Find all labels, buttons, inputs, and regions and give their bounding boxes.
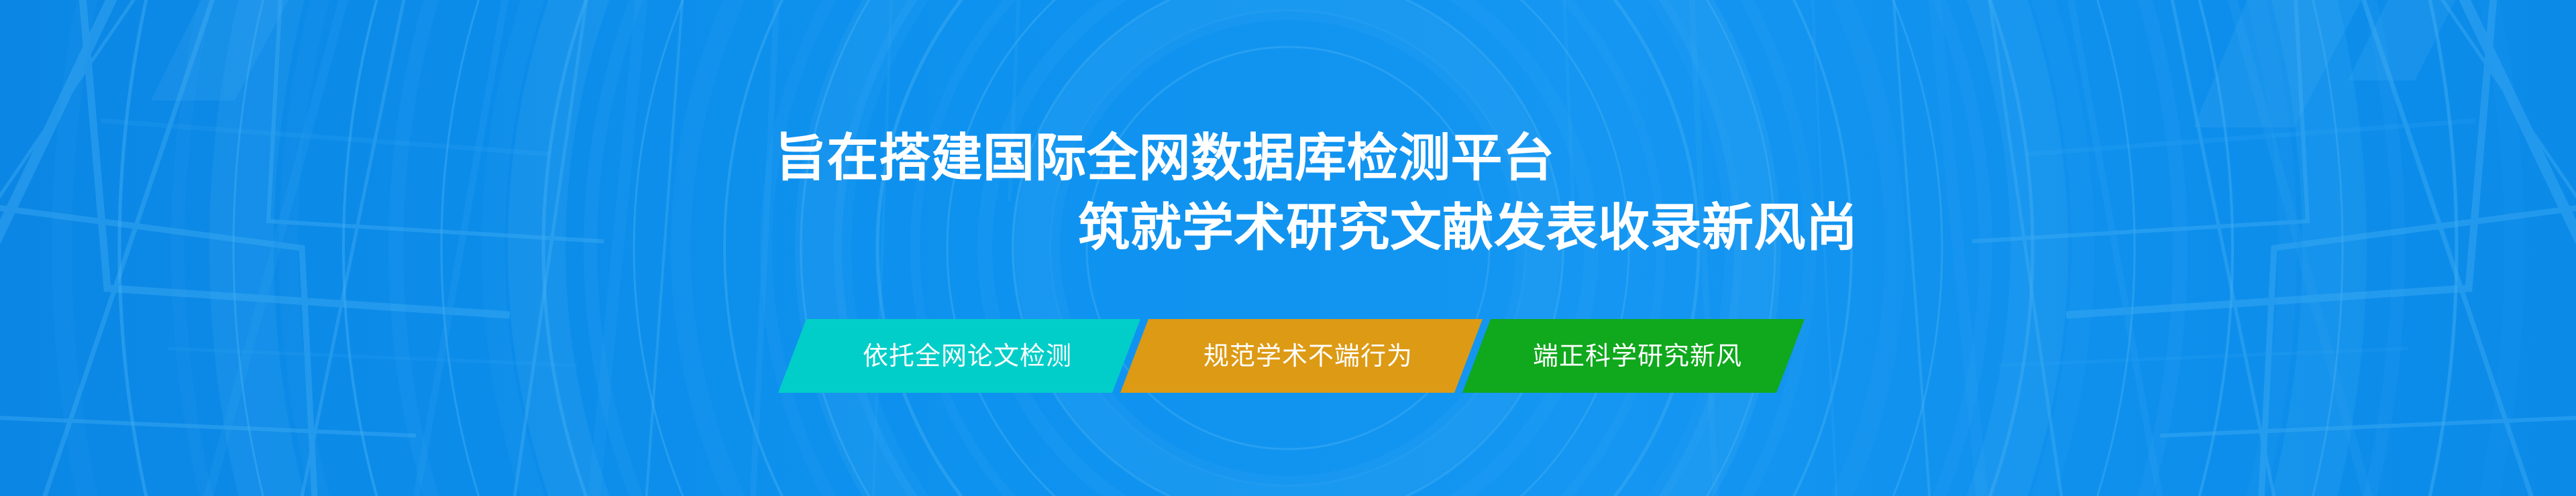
feature-tag-paper-detection[interactable]: 依托全网论文检测 bbox=[778, 319, 1140, 393]
background-tech-pattern bbox=[0, 0, 2576, 496]
feature-tag-label: 端正科学研究新风 bbox=[1533, 344, 1742, 369]
feature-tag-academic-misconduct[interactable]: 规范学术不端行为 bbox=[1120, 319, 1483, 393]
feature-tag-bar: 依托全网论文检测 规范学术不端行为 端正科学研究新风 bbox=[778, 319, 1805, 393]
promo-banner: 旨在搭建国际全网数据库检测平台 筑就学术研究文献发表收录新风尚 依托全网论文检测… bbox=[0, 0, 2576, 496]
feature-tag-label: 规范学术不端行为 bbox=[1203, 344, 1413, 369]
feature-tag-research-integrity[interactable]: 端正科学研究新风 bbox=[1462, 319, 1805, 393]
feature-tag-label: 依托全网论文检测 bbox=[863, 344, 1072, 369]
